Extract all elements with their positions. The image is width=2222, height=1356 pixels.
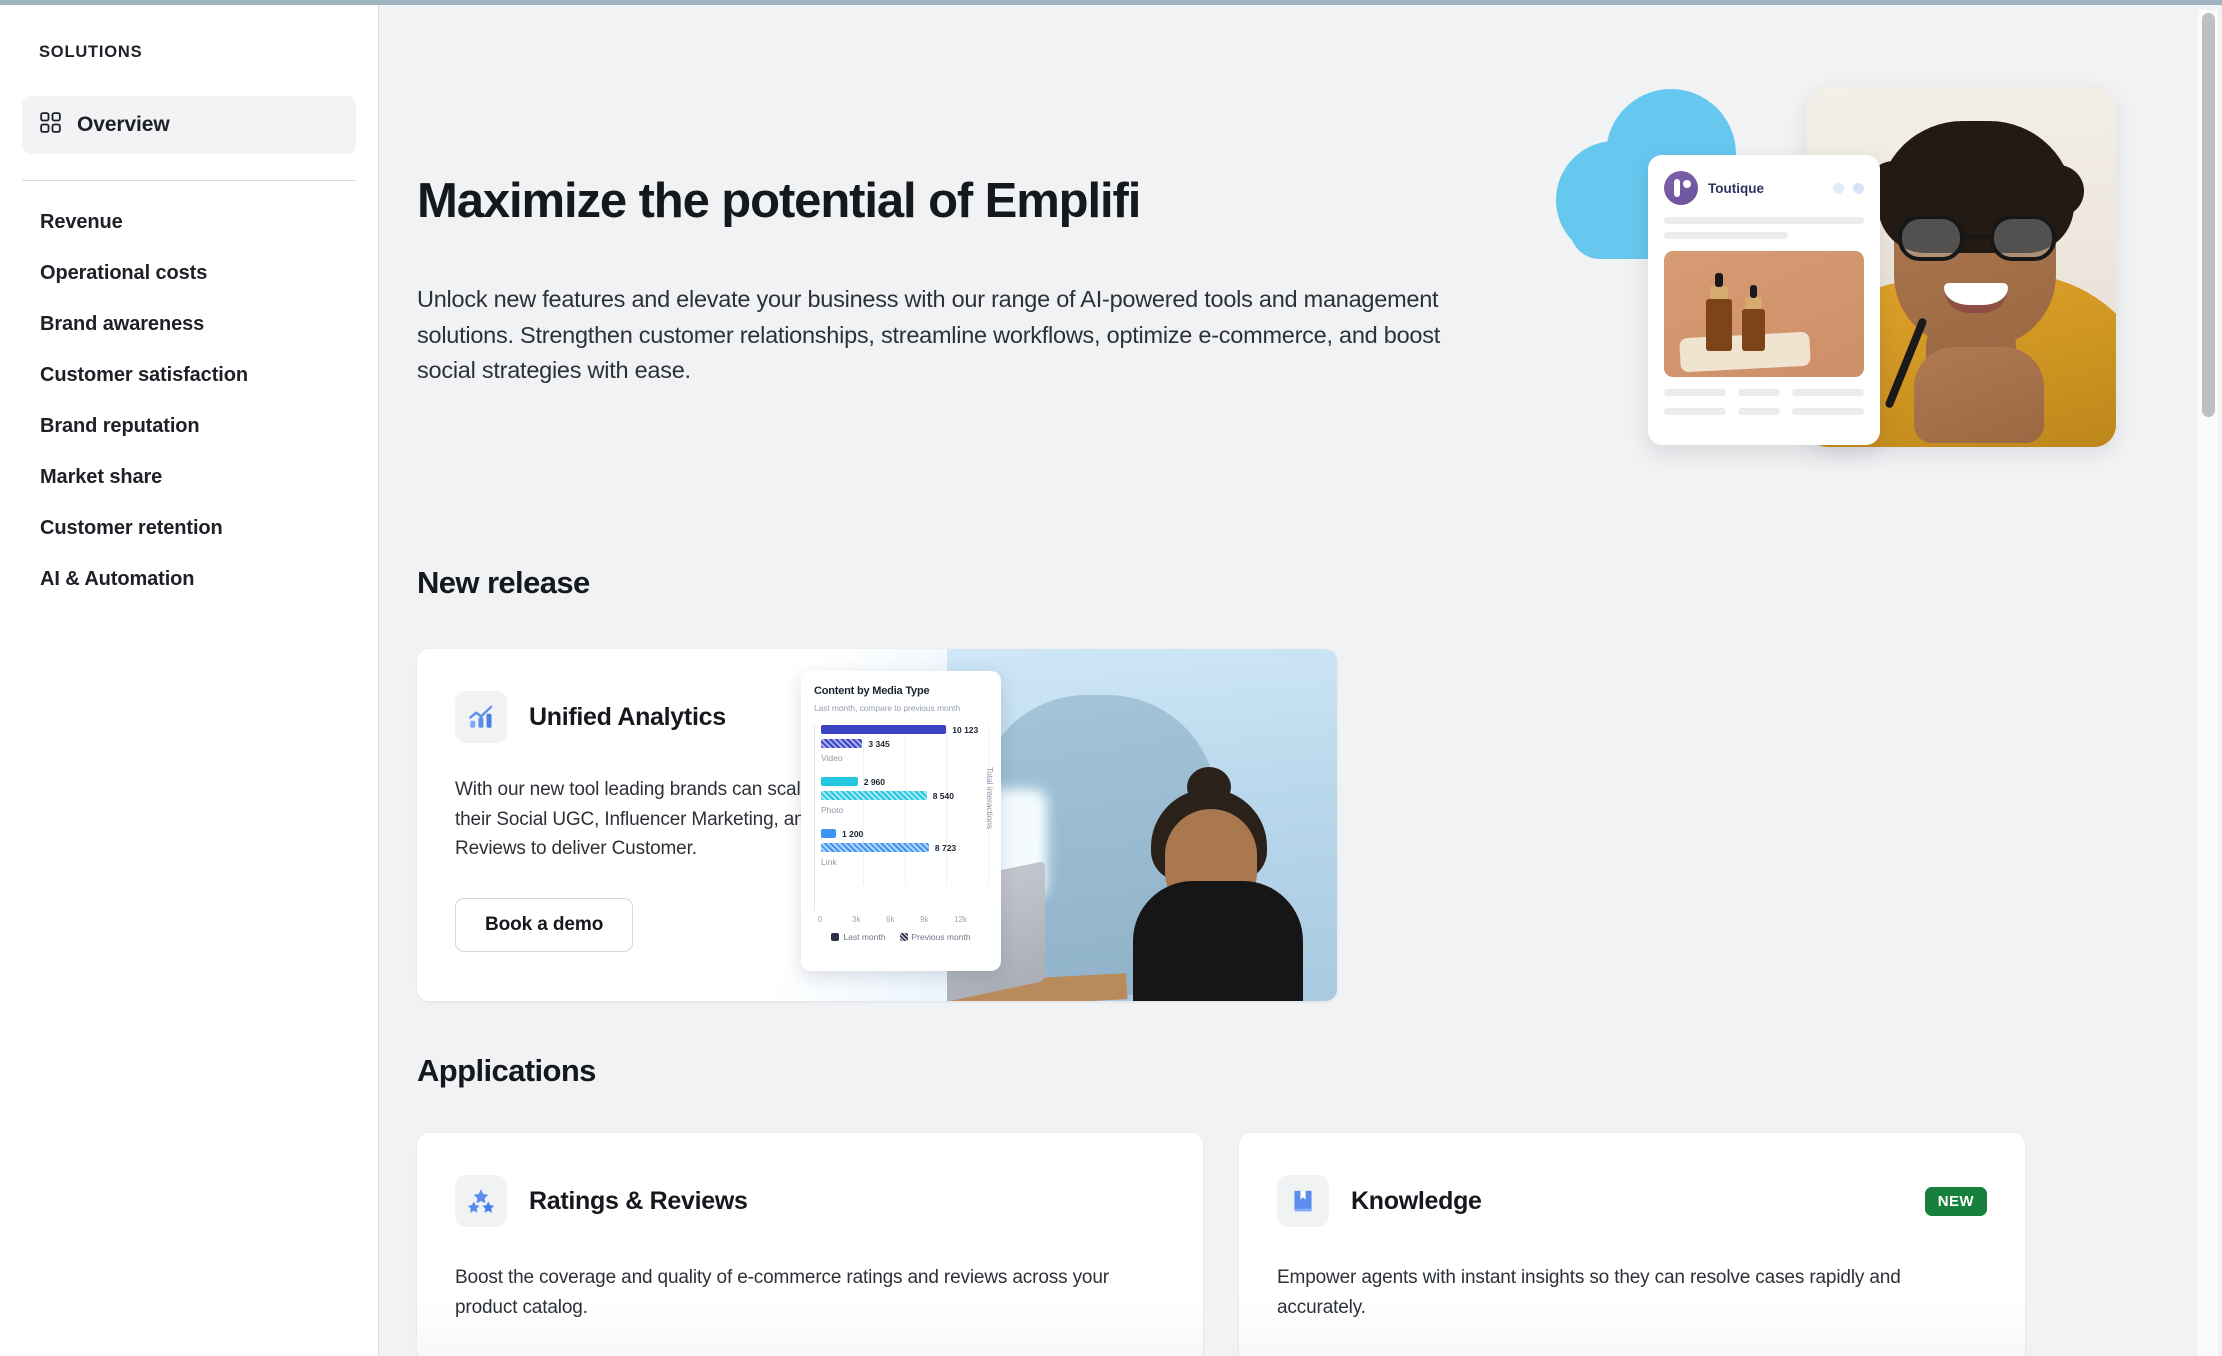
book-a-demo-button[interactable]: Book a demo bbox=[455, 898, 633, 952]
sidebar-item-overview-label: Overview bbox=[77, 113, 170, 137]
sidebar-item-customer-satisfaction[interactable]: Customer satisfaction bbox=[22, 350, 356, 401]
sidebar-item-brand-reputation[interactable]: Brand reputation bbox=[22, 401, 356, 452]
chart-group-link: 1 200 8 723 Link bbox=[821, 829, 988, 881]
chart-subtitle: Last month, compare to previous month bbox=[814, 703, 988, 713]
sidebar-item-market-share[interactable]: Market share bbox=[22, 452, 356, 503]
sidebar-item-overview[interactable]: Overview bbox=[22, 96, 356, 154]
sidebar-item-customer-retention[interactable]: Customer retention bbox=[22, 503, 356, 554]
chart-value-label: 1 200 bbox=[842, 829, 863, 839]
chart-bar-photo-last-month: 2 960 bbox=[821, 777, 858, 786]
sidebar-item-ai-automation[interactable]: AI & Automation bbox=[22, 554, 356, 605]
chart-bar-link-last-month: 1 200 bbox=[821, 829, 836, 838]
post-brand-name: Toutique bbox=[1708, 181, 1764, 196]
chart-category-label: Video bbox=[821, 753, 988, 763]
vertical-scrollbar[interactable] bbox=[2198, 10, 2218, 1356]
new-release-title: New release bbox=[417, 565, 2222, 601]
app-card-title: Knowledge bbox=[1351, 1187, 1482, 1216]
chart-value-label: 10 123 bbox=[952, 725, 978, 735]
social-post-card: Toutique bbox=[1648, 155, 1880, 445]
status-badge: NEW bbox=[1925, 1187, 1987, 1216]
chart-x-axis: 0 3k 6k 9k 12k bbox=[814, 915, 988, 924]
chart-xtick: 0 bbox=[818, 915, 852, 924]
chart-bar-video-last-month: 10 123 bbox=[821, 725, 946, 734]
app-card-description: Boost the coverage and quality of e-comm… bbox=[455, 1263, 1165, 1322]
book-bookmark-icon bbox=[1277, 1175, 1329, 1227]
page-title: Maximize the potential of Emplifi bbox=[417, 175, 1467, 229]
app-card-description: Empower agents with instant insights so … bbox=[1277, 1263, 1987, 1322]
post-placeholder-line bbox=[1664, 217, 1864, 224]
chart-bar-video-previous-month: 3 345 bbox=[821, 739, 862, 748]
chart-xtick: 6k bbox=[886, 915, 920, 924]
new-release-section: New release bbox=[379, 565, 2222, 1001]
chart-value-label: 3 345 bbox=[868, 739, 889, 749]
legend-item-previous-month: Previous month bbox=[900, 932, 971, 942]
applications-grid: Ratings & Reviews Boost the coverage and… bbox=[417, 1133, 2222, 1356]
sidebar-kicker: SOLUTIONS bbox=[22, 35, 356, 62]
chart-value-label: 2 960 bbox=[864, 777, 885, 787]
bar-chart-trend-icon bbox=[455, 691, 507, 743]
chart-xtick: 12k bbox=[954, 915, 988, 924]
app-card-ratings-reviews[interactable]: Ratings & Reviews Boost the coverage and… bbox=[417, 1133, 1203, 1356]
chart-legend: Last month Previous month bbox=[814, 932, 988, 942]
app-card-title: Ratings & Reviews bbox=[529, 1187, 748, 1216]
sidebar-item-operational-costs[interactable]: Operational costs bbox=[22, 248, 356, 299]
chart-group-video: 10 123 3 345 Video bbox=[821, 725, 988, 777]
grid-icon bbox=[40, 112, 61, 138]
chart-title: Content by Media Type bbox=[814, 685, 988, 697]
post-actions bbox=[1833, 183, 1864, 194]
post-placeholder-line bbox=[1664, 232, 1788, 239]
chart-value-label: 8 540 bbox=[933, 791, 954, 801]
three-stars-icon bbox=[455, 1175, 507, 1227]
chart-xtick: 9k bbox=[920, 915, 954, 924]
new-release-card[interactable]: Content by Media Type Last month, compar… bbox=[417, 649, 1337, 1001]
chart-category-label: Link bbox=[821, 857, 988, 867]
chart-xtick: 3k bbox=[852, 915, 886, 924]
post-footer bbox=[1664, 389, 1864, 396]
hero-illustration: Toutique bbox=[1556, 63, 2116, 523]
sidebar-item-brand-awareness[interactable]: Brand awareness bbox=[22, 299, 356, 350]
chart-bar-photo-previous-month: 8 540 bbox=[821, 791, 927, 800]
sidebar: SOLUTIONS Overview Revenue Operational c… bbox=[0, 5, 379, 1356]
release-card-title: Unified Analytics bbox=[529, 703, 726, 732]
app-card-knowledge[interactable]: Knowledge NEW Empower agents with instan… bbox=[1239, 1133, 2025, 1356]
scrollbar-thumb[interactable] bbox=[2202, 13, 2215, 417]
post-product-image bbox=[1664, 251, 1864, 377]
post-footer bbox=[1664, 408, 1864, 415]
chart-group-photo: 2 960 8 540 Photo bbox=[821, 777, 988, 829]
glasses-icon bbox=[1898, 215, 2056, 261]
analytics-widget: Content by Media Type Last month, compar… bbox=[801, 671, 1001, 971]
chart-category-label: Photo bbox=[821, 805, 988, 815]
sidebar-nav: Revenue Operational costs Brand awarenes… bbox=[22, 181, 356, 605]
chart-bar-link-previous-month: 8 723 bbox=[821, 843, 929, 852]
chart-plot-area: 10 123 3 345 Video 2 960 bbox=[814, 725, 988, 911]
hero-text: Maximize the potential of Emplifi Unlock… bbox=[417, 175, 1467, 389]
hero-subtitle: Unlock new features and elevate your bus… bbox=[417, 282, 1447, 389]
main-content: Maximize the potential of Emplifi Unlock… bbox=[379, 5, 2222, 1356]
applications-section: Applications Ratings & Reviews bbox=[379, 1053, 2222, 1356]
toutique-logo-icon bbox=[1664, 171, 1698, 205]
hero-section: Maximize the potential of Emplifi Unlock… bbox=[379, 5, 2222, 565]
app-window: SOLUTIONS Overview Revenue Operational c… bbox=[0, 0, 2222, 1356]
chart-y-axis-label: Total interactions bbox=[985, 767, 995, 829]
sidebar-item-revenue[interactable]: Revenue bbox=[22, 197, 356, 248]
legend-item-last-month: Last month bbox=[831, 932, 885, 942]
chart-value-label: 8 723 bbox=[935, 843, 956, 853]
applications-title: Applications bbox=[417, 1053, 2222, 1089]
release-card-photo bbox=[947, 649, 1337, 1001]
